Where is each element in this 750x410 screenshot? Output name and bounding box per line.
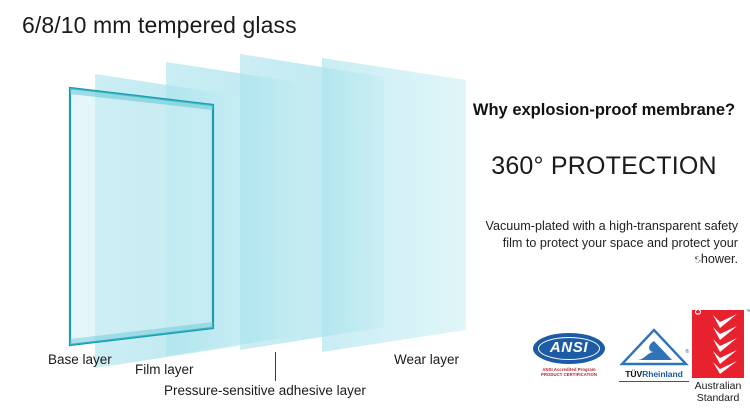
subheadline: 360° PROTECTION [470, 152, 738, 181]
trademark-symbol: ™ [746, 309, 750, 315]
glass-panel-base [70, 88, 213, 345]
headline: Why explosion-proof membrane? [470, 101, 738, 120]
caption-pressure-sensitive-adhesive-layer: Pressure-sensitive adhesive layer [164, 383, 366, 398]
promo-banner: 6/8/10 mm tempered glass [0, 0, 750, 410]
tuv-rheinland-certification-logo: ® TÜVRheinland [617, 327, 691, 382]
psa-leader-line [275, 352, 276, 381]
australian-standard-caption-line1: Australian [687, 380, 749, 392]
caption-wear-layer: Wear layer [394, 352, 459, 367]
tuv-wordmark-rheinland: Rheinland [642, 369, 683, 379]
tuv-wordmark-tuv: TÜV [625, 369, 642, 379]
australian-standard-caption: Australian Standard [687, 380, 749, 404]
ansi-oval-icon: ANSI [533, 333, 605, 364]
australian-standard-vertical-text: Certified Product [694, 257, 707, 315]
caption-film-layer: Film layer [135, 362, 194, 377]
tuv-underline [619, 381, 689, 382]
tuv-wordmark: TÜVRheinland [617, 369, 691, 379]
caption-base-layer: Base layer [48, 352, 112, 367]
ansi-subtitle-line2: PRODUCT CERTIFICATION [533, 372, 605, 377]
australian-standard-certification-logo: Certified Product ™ Australia [687, 310, 749, 404]
tuv-triangle-icon: ® [617, 327, 691, 367]
glass-stack-illustration [0, 0, 500, 410]
ansi-certification-logo: ANSI ANSI Accredited Program PRODUCT CER… [533, 333, 605, 378]
checkmark-stack-icon [711, 314, 741, 374]
certification-logo-row: ANSI ANSI Accredited Program PRODUCT CER… [525, 305, 750, 405]
australian-standard-badge: Certified Product ™ [692, 310, 744, 378]
australian-standard-caption-line2: Standard [687, 392, 749, 404]
ansi-wordmark: ANSI [533, 339, 605, 356]
